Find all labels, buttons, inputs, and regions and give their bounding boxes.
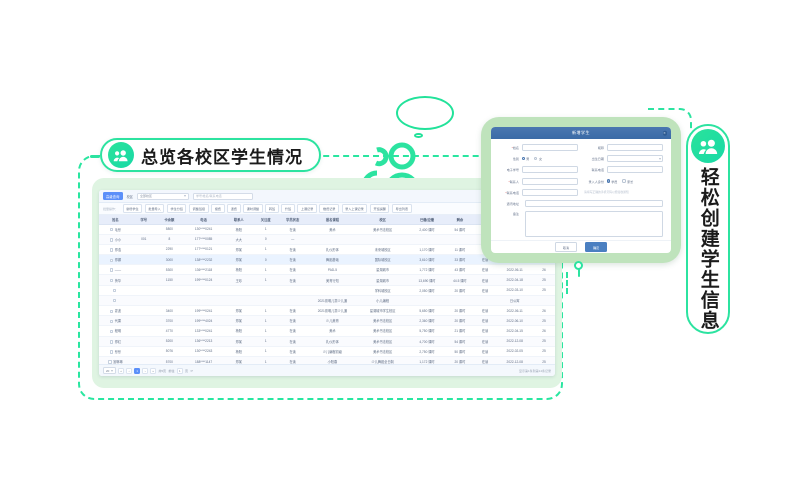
cell-student-no: 001: [132, 234, 156, 244]
table-row[interactable]: ——5300136****2118杨阳1在读PAD-5星湖城市1,772 课时4…: [99, 265, 555, 275]
create-student-label-text: 轻松创建学生信息: [698, 167, 717, 331]
radio-selected-icon: [607, 179, 610, 182]
field-phone-label: *联系电话: [499, 190, 519, 195]
column-header-9[interactable]: 已缴/应缴: [408, 215, 446, 224]
cell-age: 25: [533, 316, 555, 326]
gender-option-male-label: 男: [526, 156, 529, 161]
cell-phone: 133****0241: [183, 326, 224, 336]
column-header-5[interactable]: 关注度: [253, 215, 278, 224]
cell-text: 霍波: [115, 309, 121, 313]
cell-balance: 3400: [156, 306, 183, 316]
campus-filter-value: 全部校区: [140, 194, 152, 198]
cell-focus: 0: [253, 234, 278, 244]
toolbar-button-8[interactable]: 升班: [281, 204, 294, 214]
cell-paid: 2,360 课时: [408, 316, 446, 326]
row-checkbox[interactable]: [110, 320, 113, 323]
gender-option-female-label: 女: [539, 156, 542, 161]
cell-paid: 1,772 课时: [408, 265, 446, 275]
contact-phone-input[interactable]: [607, 166, 664, 173]
row-checkbox[interactable]: [110, 330, 113, 333]
cell-phone: [183, 285, 224, 295]
cell-paid: 2,400 课时: [408, 224, 446, 234]
cell-date: 2022-06-10: [496, 316, 533, 326]
nickname-input[interactable]: [607, 144, 664, 151]
cell-name: [99, 295, 132, 305]
cell-course: 美育行知: [307, 275, 357, 285]
cell-status: 在读: [278, 346, 307, 356]
cell-state: 在读: [474, 336, 497, 346]
cell-student-no: [132, 255, 156, 265]
toolbar-hint: 批量操作：: [103, 207, 118, 211]
cell-phone: 199****0241: [183, 306, 224, 316]
confirm-button[interactable]: 确定: [585, 242, 607, 252]
field-student-id: 电子学号: [499, 166, 578, 173]
column-header-0[interactable]: 姓名: [99, 215, 132, 224]
cell-text: 郑浩: [115, 248, 121, 252]
cell-student-no: [132, 316, 156, 326]
cell-status: —: [278, 234, 307, 244]
row-checkbox[interactable]: [110, 279, 113, 282]
cell-state: 在读: [474, 265, 497, 275]
table-row[interactable]: 代果3700199****4024郑某1在读少儿美育美术书法校区2,360 课时…: [99, 316, 555, 326]
cell-focus: 1: [253, 316, 278, 326]
source-option-student-label: 学员: [611, 179, 617, 184]
cell-contact: 杨阳: [224, 224, 253, 234]
table-row[interactable]: 2021崇明儿童少儿通小儿编程日公寓: [99, 295, 555, 305]
cell-phone: 130****2243: [183, 346, 224, 356]
cell-focus: 1: [253, 306, 278, 316]
cancel-button[interactable]: 取消: [555, 242, 577, 252]
field-source: 录入人身份 学员 家长: [584, 179, 663, 184]
field-source-label: 录入人身份: [584, 179, 604, 184]
cell-remaining: 20 课时: [446, 316, 473, 326]
name-input[interactable]: [522, 144, 579, 151]
row-checkbox[interactable]: [110, 310, 113, 313]
modal-title-bar: 新增学生 ✕: [491, 127, 671, 139]
cell-date: 日公寓: [496, 295, 533, 305]
gender-option-male[interactable]: 男: [522, 156, 530, 161]
page-size-value: 20: [106, 369, 109, 373]
cell-remaining: 44.5 课时: [446, 275, 473, 285]
toolbar-button-6[interactable]: 课时调整: [243, 204, 263, 214]
cell-course: 礼仪形体: [307, 244, 357, 254]
field-nickname-label: 昵称: [584, 145, 604, 150]
cell-focus: 0: [253, 255, 278, 265]
cell-student-no: [132, 326, 156, 336]
toolbar-button-1[interactable]: 批量导入: [145, 204, 165, 214]
cell-status: 在读: [278, 255, 307, 265]
cell-status: 在读: [278, 244, 307, 254]
cell-name: 小小: [99, 234, 132, 244]
source-option-parent-label: 家长: [627, 179, 633, 184]
cell-remaining: [446, 295, 473, 305]
cell-status: 在读: [278, 224, 307, 234]
cell-remaining: [446, 234, 473, 244]
field-contact-phone: 联系电话: [584, 166, 663, 173]
cell-contact: 郑某: [224, 336, 253, 346]
form-row-remark: 备注: [499, 211, 663, 237]
radio-selected-icon: [522, 157, 525, 160]
cell-date: 2022-06-11: [496, 265, 533, 275]
cell-focus: [253, 285, 278, 295]
cell-status: 在读: [278, 336, 307, 346]
column-header-6[interactable]: 学员状态: [278, 215, 307, 224]
row-checkbox[interactable]: [110, 259, 113, 262]
thought-bubble-dot-icon: [414, 133, 423, 138]
goto-unit: 页: [185, 369, 188, 373]
cell-campus: 美术书法校区: [358, 326, 408, 336]
cell-status: 在读: [278, 326, 307, 336]
row-checkbox[interactable]: [110, 228, 113, 231]
toolbar-button-2[interactable]: 学生分班: [167, 204, 187, 214]
field-contact: *联系人: [499, 178, 578, 185]
modal-pin-stem-icon: [578, 268, 580, 277]
cell-date: 2022-02-05: [496, 346, 533, 356]
cell-date: 2022-03-10: [496, 285, 533, 295]
cell-focus: 1: [253, 326, 278, 336]
form-row-address: 通讯地址: [499, 200, 663, 207]
cell-text: 彤彤: [115, 350, 121, 354]
cell-phone: 177****0085: [183, 234, 224, 244]
page-count-text: 共5页: [158, 369, 166, 373]
cell-campus: 美术书法校区: [358, 336, 408, 346]
cell-text: ——: [115, 268, 121, 272]
field-student-id-label: 电子学号: [499, 167, 519, 172]
cell-paid: 2,050 课时: [408, 285, 446, 295]
field-phone: *联系电话: [499, 189, 578, 196]
cell-balance: 8: [156, 234, 183, 244]
cell-state: 在读: [474, 316, 497, 326]
cell-balance: 5800: [156, 224, 183, 234]
search-input[interactable]: 学号/姓名/联系电话: [193, 193, 253, 200]
chevron-down-icon: [184, 195, 186, 197]
cell-state: [474, 295, 497, 305]
add-student-dialog: 新增学生 ✕ *姓名 昵称 性别: [491, 127, 671, 253]
cell-course: [307, 285, 357, 295]
toolbar-button-12[interactable]: 开班提醒: [370, 204, 390, 214]
field-gender: 性别 男 女: [499, 156, 578, 161]
column-header-7[interactable]: 报名课程: [307, 215, 357, 224]
cell-status: 在读: [278, 265, 307, 275]
row-checkbox[interactable]: [113, 289, 116, 292]
page-next-button[interactable]: ›: [142, 368, 148, 374]
column-header-4[interactable]: 联系人: [224, 215, 253, 224]
cell-student-no: [132, 306, 156, 316]
remark-textarea[interactable]: [525, 211, 663, 237]
table-row[interactable]: 彤彤5076130****2243杨阳1在读少儿编程初级美术书法校区2,750 …: [99, 346, 555, 356]
cell-focus: 1: [253, 346, 278, 356]
cell-focus: 1: [253, 265, 278, 275]
cell-contact: [224, 295, 253, 305]
row-checkbox[interactable]: [110, 248, 113, 251]
cell-remaining: 20 课时: [446, 285, 473, 295]
page-first-button[interactable]: «: [118, 368, 124, 374]
cell-focus: [253, 295, 278, 305]
field-name: *姓名: [499, 144, 578, 151]
cell-balance: [156, 295, 183, 305]
cell-text: 小小: [115, 238, 121, 242]
cell-phone: 199****0124: [183, 275, 224, 285]
cell-student-no: [132, 244, 156, 254]
row-checkbox[interactable]: [110, 268, 113, 271]
cell-course: 2021崇明儿童少儿通: [307, 295, 357, 305]
source-radio-group: 学员 家长: [607, 179, 664, 184]
toolbar-button-7[interactable]: 转班: [265, 204, 278, 214]
overview-label-badge: 总览各校区学生情况: [100, 138, 321, 172]
cell-phone: 177****0121: [183, 244, 224, 254]
page-prev-button[interactable]: ‹: [126, 368, 132, 374]
cell-contact: 杨阳: [224, 265, 253, 275]
overview-label-text: 总览各校区学生情况: [141, 143, 303, 168]
table-row[interactable]: 学科城校区2,050 课时20 课时在读2022-03-1025: [99, 285, 555, 295]
cell-balance: 5200: [156, 336, 183, 346]
cell-contact: 郑某: [224, 255, 253, 265]
row-checkbox[interactable]: [110, 350, 113, 353]
modal-connector-dash: [566, 272, 568, 294]
cell-campus: 学科城校区: [358, 285, 408, 295]
toolbar-button-13[interactable]: 导出列表: [392, 204, 412, 214]
cell-status: 在读: [278, 275, 307, 285]
cell-name: 黄华: [99, 275, 132, 285]
cell-remaining: 54 课时: [446, 336, 473, 346]
cell-student-no: [132, 346, 156, 356]
cell-text: 郑红: [115, 340, 121, 344]
campus-filter-label: 校区: [127, 194, 133, 199]
cell-text: 郑娜: [115, 258, 121, 262]
pagination-bar: 20 « ‹ 1 › » 共5页 前往 1 页 ⟳ 显示第1条到第14条记录: [99, 364, 555, 376]
cell-paid: [408, 295, 446, 305]
cell-status: 在读: [278, 316, 307, 326]
cell-state: 在读: [474, 326, 497, 336]
field-phone-tip: 请填写正确的手机号码以便接收通知: [584, 190, 663, 194]
cell-student-no: [132, 224, 156, 234]
refresh-icon[interactable]: ⟳: [191, 369, 194, 373]
field-birthday: 出生日期: [584, 155, 663, 162]
poster-canvas: 高级查询 校区 全部校区 学号/姓名/联系电话 批量操作： 新增学生批量导入学生…: [0, 0, 800, 500]
cell-balance: 3000: [156, 255, 183, 265]
cell-course: 美术: [307, 224, 357, 234]
cell-age: 26: [533, 326, 555, 336]
cell-paid: 5,750 课时: [408, 326, 446, 336]
form-row-contact: *联系人 录入人身份 学员 家长: [499, 178, 663, 185]
cell-state: 在读: [474, 306, 497, 316]
row-checkbox[interactable]: [110, 340, 113, 343]
cell-course: [307, 234, 357, 244]
cell-focus: 1: [253, 336, 278, 346]
cell-name: 郑娜: [99, 255, 132, 265]
cell-campus: 星湖城市: [358, 275, 408, 285]
search-placeholder: 学号/姓名/联系电话: [196, 194, 222, 198]
cell-campus: 美术书法校区: [358, 346, 408, 356]
radio-icon: [534, 157, 537, 160]
cell-campus: 未来城校区: [358, 244, 408, 254]
cell-remaining: 50 课时: [446, 346, 473, 356]
source-option-parent[interactable]: 家长: [622, 179, 633, 184]
cell-name: ——: [99, 265, 132, 275]
cell-balance: 2290: [156, 244, 183, 254]
toolbar-button-11[interactable]: 录入上课记录: [342, 204, 368, 214]
field-nickname: 昵称: [584, 144, 663, 151]
cell-text: 毛彤: [115, 228, 121, 232]
cell-text: 代果: [115, 319, 121, 323]
cell-course: 礼仪形体: [307, 336, 357, 346]
toolbar-button-10[interactable]: 缴费记录: [319, 204, 339, 214]
modal-form: *姓名 昵称 性别 男: [491, 139, 671, 240]
address-input[interactable]: [525, 200, 663, 207]
cell-student-no: [132, 336, 156, 346]
cell-remaining: 54 课时: [446, 224, 473, 234]
cell-focus: 1: [253, 275, 278, 285]
cell-phone: 136****2213: [183, 336, 224, 346]
cell-remaining: 21 课时: [446, 326, 473, 336]
form-row-id: 电子学号 联系电话: [499, 166, 663, 173]
cell-balance: 5300: [156, 265, 183, 275]
column-header-1[interactable]: 学号: [132, 215, 156, 224]
cell-text: 黄华: [115, 279, 121, 283]
gender-option-female[interactable]: 女: [534, 156, 542, 161]
cell-phone: 130****0241: [183, 224, 224, 234]
cell-student-no: [132, 285, 156, 295]
field-remark-label: 备注: [499, 211, 519, 216]
column-header-10[interactable]: 剩余: [446, 215, 473, 224]
cell-student-no: [132, 295, 156, 305]
create-student-label-badge: 轻松创建学生信息: [686, 124, 730, 334]
phone-input[interactable]: [522, 189, 579, 196]
cell-text: 程明: [115, 329, 121, 333]
cell-balance: 3700: [156, 316, 183, 326]
cell-name: 毛彤: [99, 224, 132, 234]
cell-contact: 大大: [224, 234, 253, 244]
phone-tip-text: 请填写正确的手机号码以便接收通知: [584, 190, 629, 194]
cell-course: PAD-5: [307, 265, 357, 275]
table-row[interactable]: 程明4770133****0241杨阳1在读美术美术书法校区5,750 课时21…: [99, 326, 555, 336]
toolbar-button-4[interactable]: 续费: [211, 204, 224, 214]
field-address-label: 通讯地址: [499, 201, 519, 206]
modal-title-text: 新增学生: [572, 130, 590, 136]
cell-campus: 星湖城市学生校区: [358, 306, 408, 316]
source-option-student[interactable]: 学员: [607, 179, 618, 184]
group-people-icon: [691, 129, 725, 163]
cell-paid: 3,610 课时: [408, 255, 446, 265]
cell-status: [278, 285, 307, 295]
field-name-label: *姓名: [499, 145, 519, 150]
cell-name: 郑红: [99, 336, 132, 346]
radio-icon: [622, 179, 625, 182]
goto-label: 前往: [169, 369, 175, 373]
toolbar-button-3[interactable]: 调整班级: [189, 204, 209, 214]
toolbar-button-5[interactable]: 退费: [227, 204, 240, 214]
page-current-button[interactable]: 1: [134, 368, 140, 374]
chevron-down-icon: [111, 370, 113, 372]
birthday-input[interactable]: [607, 155, 664, 162]
cell-campus: 小儿编程: [358, 295, 408, 305]
column-header-2[interactable]: 卡余额: [156, 215, 183, 224]
cell-balance: 5076: [156, 346, 183, 356]
cell-status: 在读: [278, 306, 307, 316]
cell-campus: 美术书法校区: [358, 316, 408, 326]
cell-paid: [408, 234, 446, 244]
cell-contact: 王珍: [224, 275, 253, 285]
cell-balance: [156, 285, 183, 295]
row-checkbox[interactable]: [113, 299, 116, 302]
cell-age: 26: [533, 265, 555, 275]
cell-state: 在读: [474, 285, 497, 295]
gender-radio-group: 男 女: [522, 156, 579, 161]
cell-name: [99, 285, 132, 295]
calendar-icon: [659, 158, 661, 160]
cell-phone: 136****2118: [183, 265, 224, 275]
row-checkbox[interactable]: [110, 238, 113, 241]
cell-age: 25: [533, 285, 555, 295]
cell-course: 2021崇明儿童少儿通: [307, 306, 357, 316]
column-header-8[interactable]: 校区: [358, 215, 408, 224]
page-size-select[interactable]: 20: [103, 367, 116, 375]
cell-name: 代果: [99, 316, 132, 326]
field-contact-label: *联系人: [499, 179, 519, 184]
cell-name: 霍波: [99, 306, 132, 316]
toolbar-button-0[interactable]: 新增学生: [123, 204, 143, 214]
cell-phone: 199****4024: [183, 316, 224, 326]
cell-phone: 138****2232: [183, 255, 224, 265]
cell-date: 2022-04-15: [496, 326, 533, 336]
cell-course: 舞蹈基础: [307, 255, 357, 265]
thought-bubble-icon: [396, 96, 454, 130]
toolbar-button-9[interactable]: 上课记录: [297, 204, 317, 214]
form-row-name: *姓名 昵称: [499, 144, 663, 151]
column-header-3[interactable]: 电话: [183, 215, 224, 224]
form-row-gender: 性别 男 女 出生日期: [499, 155, 663, 162]
cell-age: 25: [533, 275, 555, 285]
cell-focus: 1: [253, 224, 278, 234]
modal-footer: 取消 确定: [491, 240, 671, 253]
student-id-input[interactable]: [522, 166, 579, 173]
cell-student-no: [132, 275, 156, 285]
cell-course: 少儿编程初级: [307, 346, 357, 356]
cell-name: 彤彤: [99, 346, 132, 356]
campus-filter-select[interactable]: 全部校区: [137, 193, 189, 200]
cell-remaining: 43 课时: [446, 265, 473, 275]
group-people-icon: [108, 142, 134, 168]
cell-paid: 1,170 课时: [408, 244, 446, 254]
cell-paid: 4,700 课时: [408, 336, 446, 346]
table-row[interactable]: 霍波3400199****0241郑某1在读2021崇明儿童少儿通星湖城市学生校…: [99, 306, 555, 316]
cell-paid: 5,650 课时: [408, 306, 446, 316]
close-icon[interactable]: ✕: [663, 131, 668, 136]
cell-state: 在读: [474, 275, 497, 285]
cell-balance: 1150: [156, 275, 183, 285]
cell-paid: 2,750 课时: [408, 346, 446, 356]
advanced-search-button[interactable]: 高级查询: [103, 192, 123, 200]
field-gender-label: 性别: [499, 156, 519, 161]
cell-age: [533, 295, 555, 305]
cell-phone: [183, 295, 224, 305]
table-row[interactable]: 郑红5200136****2213郑某1在读礼仪形体美术书法校区4,700 课时…: [99, 336, 555, 346]
cell-contact: [224, 285, 253, 295]
field-birthday-label: 出生日期: [584, 156, 604, 161]
cell-name: 程明: [99, 326, 132, 336]
table-row[interactable]: 黄华1150199****0124王珍1在读美育行知星湖城市13,690 课时4…: [99, 275, 555, 285]
cell-balance: 4770: [156, 326, 183, 336]
goto-page-input[interactable]: 1: [177, 368, 183, 374]
contact-input[interactable]: [522, 178, 579, 185]
cell-contact: 杨阳: [224, 326, 253, 336]
cell-remaining: 20 课时: [446, 306, 473, 316]
cell-remaining: 11 课时: [446, 244, 473, 254]
cell-date: 2022-12-08: [496, 336, 533, 346]
page-last-button[interactable]: »: [150, 368, 156, 374]
cell-contact: 郑某: [224, 306, 253, 316]
cell-contact: 杨阳: [224, 346, 253, 356]
